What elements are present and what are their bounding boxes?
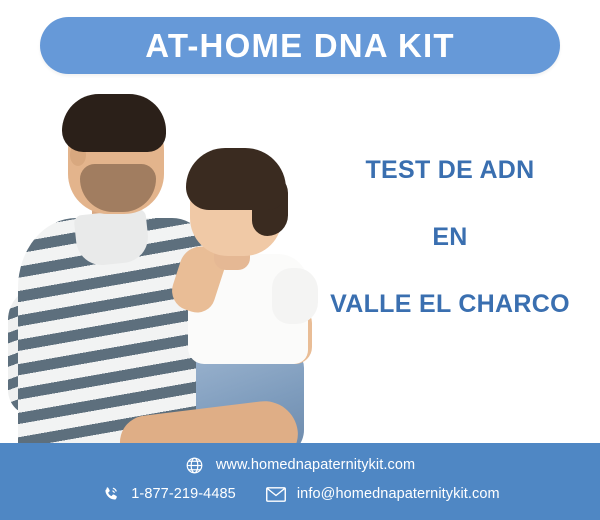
family-photo <box>0 78 320 456</box>
globe-icon <box>185 455 205 475</box>
contact-phone[interactable]: 1-877-219-4485 <box>100 484 236 504</box>
contact-row-website: www.homednapaternitykit.com <box>0 455 600 475</box>
phone-label: 1-877-219-4485 <box>131 487 236 502</box>
contact-row-phone-email: 1-877-219-4485 info@homednapaternitykit.… <box>0 484 600 504</box>
promotional-poster: AT-HOME DNA KIT TEST DE ADN EN <box>0 0 600 520</box>
photo-man-hair <box>62 94 166 152</box>
contact-email[interactable]: info@homednapaternitykit.com <box>266 484 500 504</box>
contact-website[interactable]: www.homednapaternitykit.com <box>185 455 415 475</box>
email-label: info@homednapaternitykit.com <box>297 487 500 502</box>
photo-canvas <box>0 78 320 456</box>
headline-block: TEST DE ADN EN VALLE EL CHARCO <box>310 158 590 317</box>
contact-footer: www.homednapaternitykit.com 1-877-219-44… <box>0 443 600 520</box>
header-banner: AT-HOME DNA KIT <box>40 17 560 74</box>
phone-icon <box>100 484 120 504</box>
website-label: www.homednapaternitykit.com <box>216 458 415 473</box>
page-title: AT-HOME DNA KIT <box>145 29 454 62</box>
headline-line-1: TEST DE ADN <box>310 158 590 183</box>
photo-child-hair <box>186 148 286 210</box>
headline-line-3: VALLE EL CHARCO <box>310 292 590 317</box>
envelope-icon <box>266 484 286 504</box>
headline-line-2: EN <box>310 225 590 250</box>
